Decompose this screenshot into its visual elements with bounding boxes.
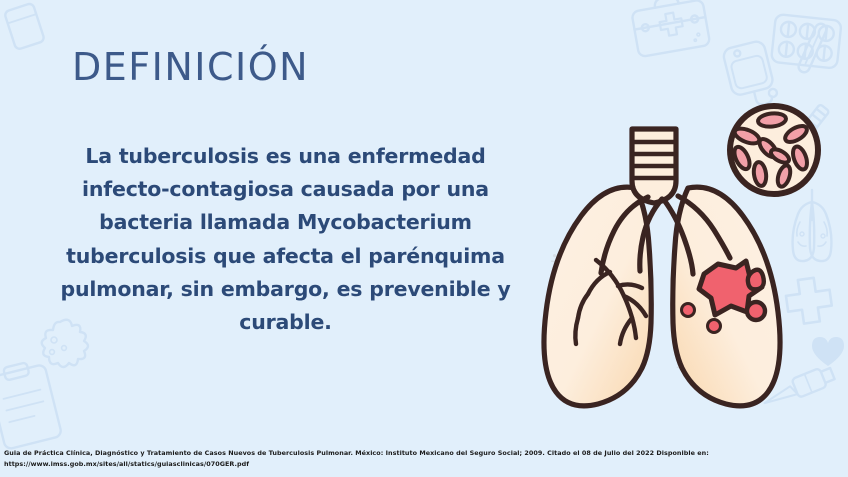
- lungs-illustration: iStock iStoc iSt: [528, 96, 848, 416]
- citation-line-1: Guia de Práctica Clínica, Diagnóstico y …: [4, 448, 844, 458]
- source-citation: Guia de Práctica Clínica, Diagnóstico y …: [4, 448, 844, 469]
- body-line: pulmonar, sin embargo, es prevenible y: [58, 273, 513, 306]
- first-aid-kit-doodle: [630, 0, 710, 57]
- body-line: bacteria llamada Mycobacterium: [58, 206, 513, 239]
- slide-root: DEFINICIÓN La tuberculosis es una enferm…: [0, 0, 848, 477]
- pill-blister-doodle: [4, 3, 45, 50]
- definition-body-text: La tuberculosis es una enfermedad infect…: [58, 140, 513, 339]
- body-line: La tuberculosis es una enfermedad: [58, 140, 513, 173]
- left-lung: [544, 187, 651, 406]
- body-line: curable.: [58, 306, 513, 339]
- pill-blister-doodle: [771, 14, 842, 69]
- body-line: infecto-contagiosa causada por una: [58, 173, 513, 206]
- body-line: tuberculosis que afecta el parénquima: [58, 240, 513, 273]
- page-title: DEFINICIÓN: [72, 47, 309, 89]
- clipboard-doodle: [0, 358, 62, 450]
- thermometer-doodle: [797, 22, 828, 74]
- citation-line-2[interactable]: https://www.imss.gob.mx/sites/all/static…: [4, 459, 844, 469]
